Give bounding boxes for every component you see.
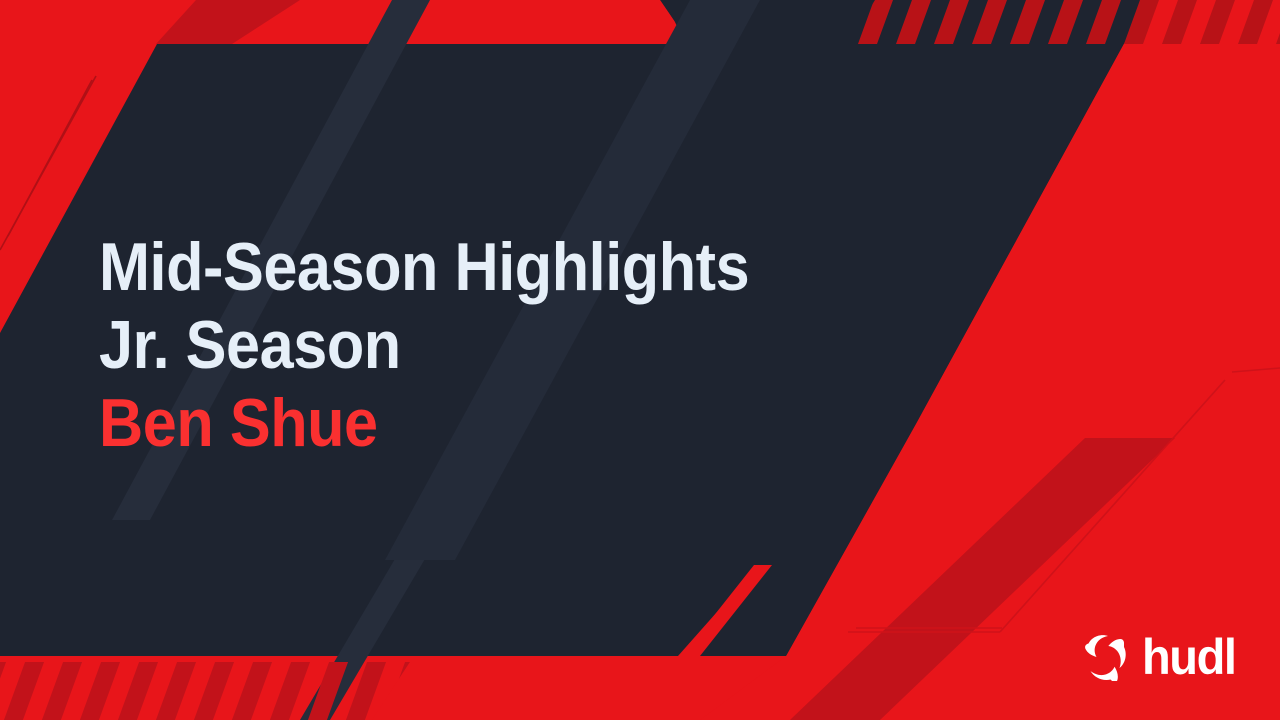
title-line-secondary: Jr. Season (99, 306, 837, 384)
title-block: Mid-Season Highlights Jr. Season Ben Shu… (99, 228, 919, 462)
hudl-mark-icon (1080, 633, 1132, 681)
athlete-name: Ben Shue (99, 384, 837, 462)
title-line-primary: Mid-Season Highlights (99, 228, 837, 306)
hudl-logo: hudl (1080, 630, 1242, 684)
stripe-band-bottom-left (0, 655, 440, 720)
title-card: Mid-Season Highlights Jr. Season Ben Shu… (0, 0, 1280, 720)
hudl-wordmark: hudl (1142, 632, 1236, 682)
